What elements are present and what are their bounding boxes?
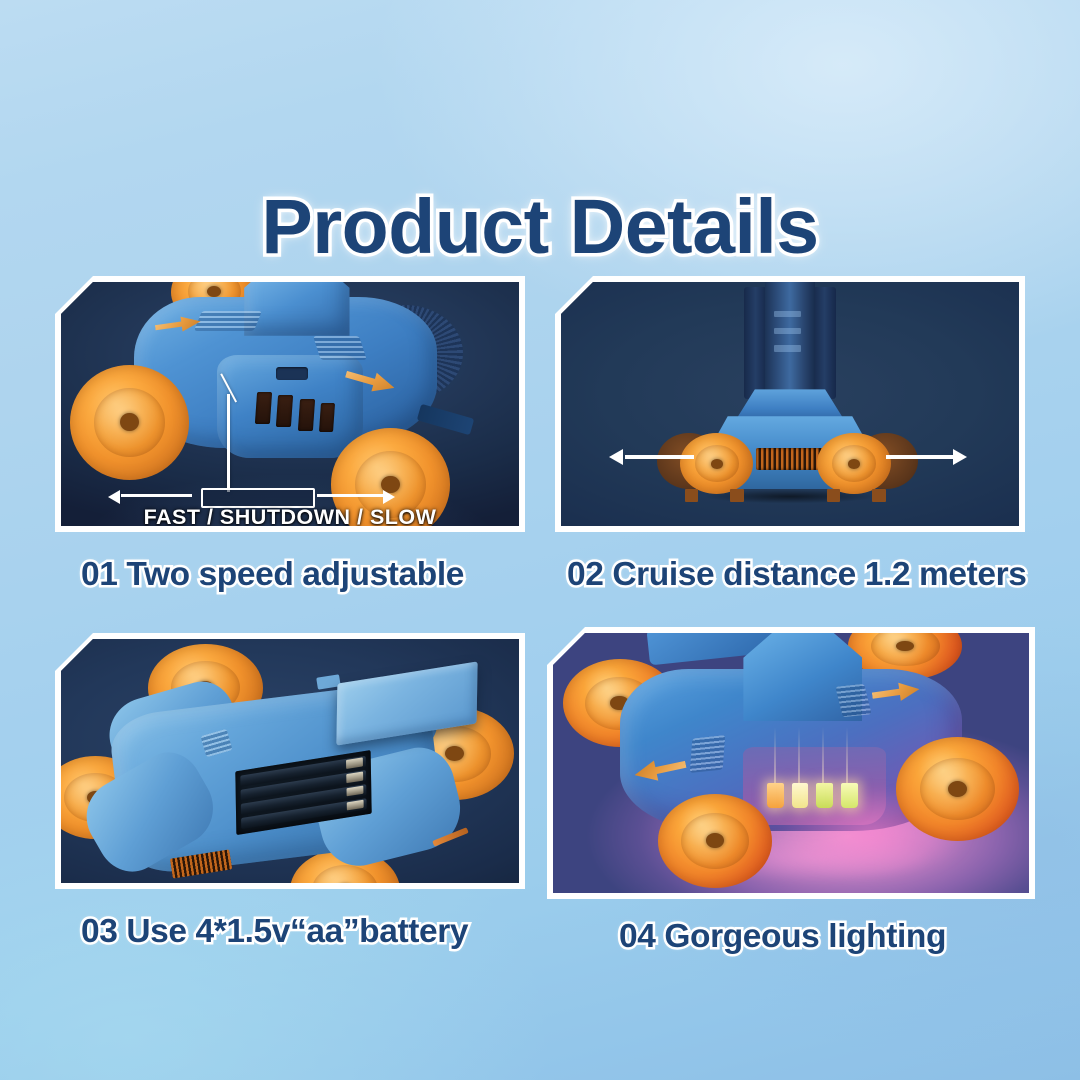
pole-marking bbox=[774, 328, 801, 334]
arrow-right-icon bbox=[953, 449, 967, 465]
feature-caption-02: 02 Cruise distance 1.2 meters bbox=[555, 556, 1025, 594]
arrow-left-icon bbox=[609, 449, 623, 465]
feature-caption-01: 01 Two speed adjustable bbox=[55, 556, 525, 594]
overlay-label-speed-modes: FAST / SHUTDOWN / SLOW bbox=[61, 505, 519, 526]
feature-caption-04: 04 Gorgeous lighting bbox=[547, 918, 1017, 956]
wheel-foot bbox=[827, 489, 841, 501]
pole-marking bbox=[774, 345, 801, 351]
arrow-left-line bbox=[121, 494, 192, 497]
arrow-right-line bbox=[886, 455, 955, 459]
body-ridge bbox=[314, 336, 368, 360]
arrow-right-icon bbox=[383, 490, 395, 504]
photo-frame-01: FAST / SHUTDOWN / SLOW bbox=[55, 276, 525, 532]
wheel-front-right bbox=[817, 433, 890, 494]
wheel-foot bbox=[685, 489, 699, 501]
feature-card-01[interactable]: FAST / SHUTDOWN / SLOW 01 Two speed adju… bbox=[55, 276, 525, 594]
toy-tower bbox=[244, 282, 349, 336]
vent-slot bbox=[298, 399, 315, 431]
vent-slot bbox=[319, 403, 335, 432]
photo-frame-02 bbox=[555, 276, 1025, 532]
vent-slot bbox=[276, 395, 293, 427]
page-title: Product Details bbox=[0, 183, 1080, 272]
wheel-foot bbox=[730, 489, 744, 501]
product-photo-03 bbox=[61, 639, 519, 883]
body-ridge bbox=[690, 735, 726, 773]
photo-frame-03 bbox=[55, 633, 525, 889]
scene-speed-switch: FAST / SHUTDOWN / SLOW bbox=[61, 282, 519, 526]
led-light-beam bbox=[774, 727, 776, 789]
feature-caption-03: 03 Use 4*1.5v“aa”battery bbox=[55, 913, 525, 951]
arrow-right-line bbox=[317, 494, 388, 497]
led-lamp-3 bbox=[816, 783, 833, 808]
vent-slot bbox=[255, 392, 272, 424]
led-light-beam bbox=[846, 727, 848, 789]
feature-card-04[interactable]: 04 Gorgeous lighting bbox=[547, 627, 1017, 956]
wheel-bottom-right bbox=[896, 737, 1020, 841]
scene-battery-compartment bbox=[61, 639, 519, 883]
led-lamp-1 bbox=[767, 783, 784, 808]
photo-frame-04 bbox=[547, 627, 1035, 899]
handle-pole bbox=[765, 282, 815, 404]
led-light-beam bbox=[822, 727, 824, 789]
handle-pole-side bbox=[813, 287, 836, 399]
scene-gorgeous-lighting bbox=[553, 633, 1029, 893]
wheel-bottom-left bbox=[658, 794, 772, 888]
pole-marking bbox=[774, 311, 801, 317]
product-photo-04 bbox=[553, 633, 1029, 893]
arrow-left-icon bbox=[108, 490, 120, 504]
feature-card-02[interactable]: 02 Cruise distance 1.2 meters bbox=[555, 276, 1025, 594]
product-photo-02 bbox=[561, 282, 1019, 526]
led-lamp-2 bbox=[792, 783, 809, 808]
led-light-beam bbox=[798, 727, 800, 789]
body-ridge bbox=[194, 311, 261, 331]
led-lamp-4 bbox=[841, 783, 858, 808]
front-grille bbox=[756, 448, 825, 470]
product-photo-01: FAST / SHUTDOWN / SLOW bbox=[61, 282, 519, 526]
feature-card-grid: FAST / SHUTDOWN / SLOW 01 Two speed adju… bbox=[55, 276, 1025, 966]
wheel-foot bbox=[872, 489, 886, 501]
arrow-left-line bbox=[625, 455, 694, 459]
scene-cruise-distance bbox=[561, 282, 1019, 526]
callout-leader-line bbox=[227, 394, 229, 492]
speed-switch-nub bbox=[276, 367, 308, 379]
feature-card-03[interactable]: 03 Use 4*1.5v“aa”battery bbox=[55, 633, 525, 951]
handle-pole-side bbox=[744, 287, 767, 399]
wheel-front-left bbox=[70, 365, 189, 480]
led-light-bank bbox=[767, 781, 857, 810]
